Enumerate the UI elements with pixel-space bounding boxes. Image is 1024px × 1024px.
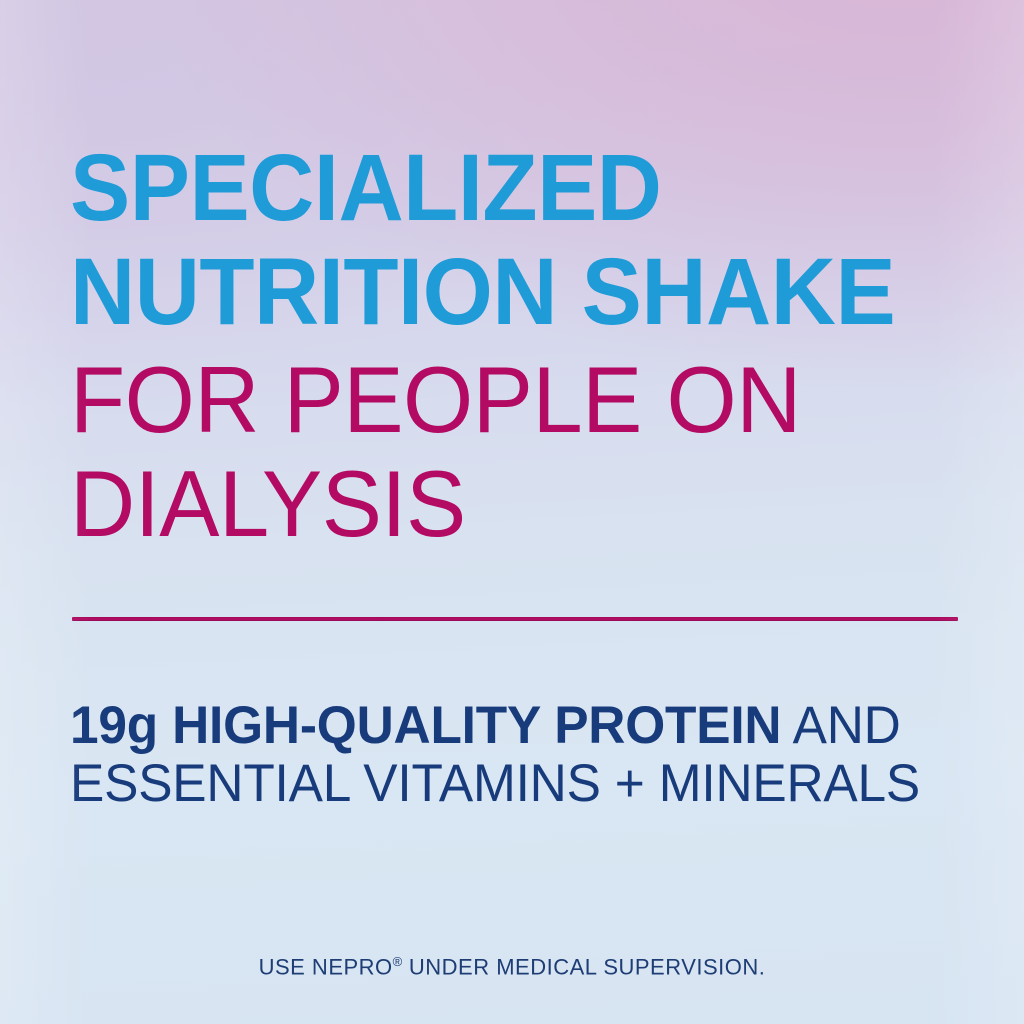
footer-spacer [402, 954, 409, 979]
headline-line-1: SPECIALIZED [70, 136, 925, 240]
promotional-card: SPECIALIZED NUTRITION SHAKE FOR PEOPLE O… [0, 0, 1024, 1024]
footer-prefix: USE NEPRO [259, 954, 393, 979]
claim-spacer [781, 696, 792, 755]
headline-line-2: NUTRITION SHAKE [70, 240, 925, 344]
footer-suffix: UNDER MEDICAL SUPERVISION. [409, 954, 766, 979]
claim-line-1: 19g HIGH-QUALITY PROTEIN AND [70, 697, 953, 755]
registered-trademark-icon: ® [393, 954, 403, 969]
headline-line-3: FOR PEOPLE ON [70, 348, 934, 452]
claim-protein-emphasis [158, 696, 172, 755]
claim-line-2: ESSENTIAL VITAMINS + MINERALS [70, 755, 953, 813]
horizontal-rule [72, 617, 958, 621]
card-content: SPECIALIZED NUTRITION SHAKE FOR PEOPLE O… [0, 0, 1024, 1024]
claim-connector: AND [793, 696, 901, 755]
claim-protein-text: HIGH-QUALITY PROTEIN [172, 696, 781, 755]
claim-protein-amount: 19g [70, 696, 158, 755]
headline-line-4: DIALYSIS [70, 452, 934, 556]
footer-disclaimer: USE NEPRO® UNDER MEDICAL SUPERVISION. [0, 954, 1024, 980]
